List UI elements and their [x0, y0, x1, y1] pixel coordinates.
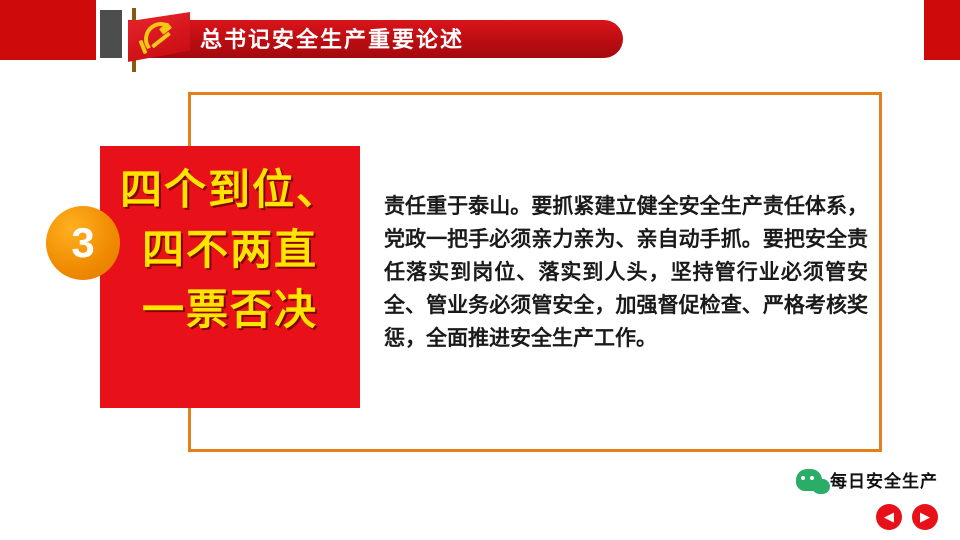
banner-gray-bar — [100, 10, 122, 58]
keyword-box: 四个到位、 四不两直 一票否决 — [100, 146, 360, 408]
brand-name: 每日安全生产 — [830, 467, 938, 492]
step-number: 3 — [71, 222, 94, 264]
hammer-shape — [148, 24, 172, 48]
banner-left-block — [0, 0, 96, 60]
body-paragraph: 责任重于泰山。要抓紧建立健全安全生产责任体系，党政一把手必须亲力亲为、亲自动手抓… — [384, 190, 868, 355]
keyword-line-2: 四不两直 — [100, 220, 360, 280]
page-title: 总书记安全生产重要论述 — [200, 25, 620, 55]
next-button[interactable]: ▶ — [912, 504, 938, 530]
keyword-text: 四个到位、 四不两直 一票否决 — [100, 160, 360, 340]
slide: 总书记安全生产重要论述 四个到位、 四不两直 一票否决 3 责任重于泰山。要抓紧… — [0, 0, 960, 540]
keyword-line-1: 四个到位、 — [100, 160, 360, 220]
wechat-icon — [796, 469, 822, 491]
ccp-party-emblem-icon — [128, 6, 190, 72]
banner-right-block — [924, 0, 960, 60]
step-number-badge: 3 — [46, 206, 120, 280]
keyword-line-3: 一票否决 — [100, 280, 360, 340]
brand-block: 每日安全生产 — [796, 467, 938, 492]
prev-button[interactable]: ◀ — [876, 504, 902, 530]
nav-buttons[interactable]: ◀ ▶ — [876, 504, 938, 530]
